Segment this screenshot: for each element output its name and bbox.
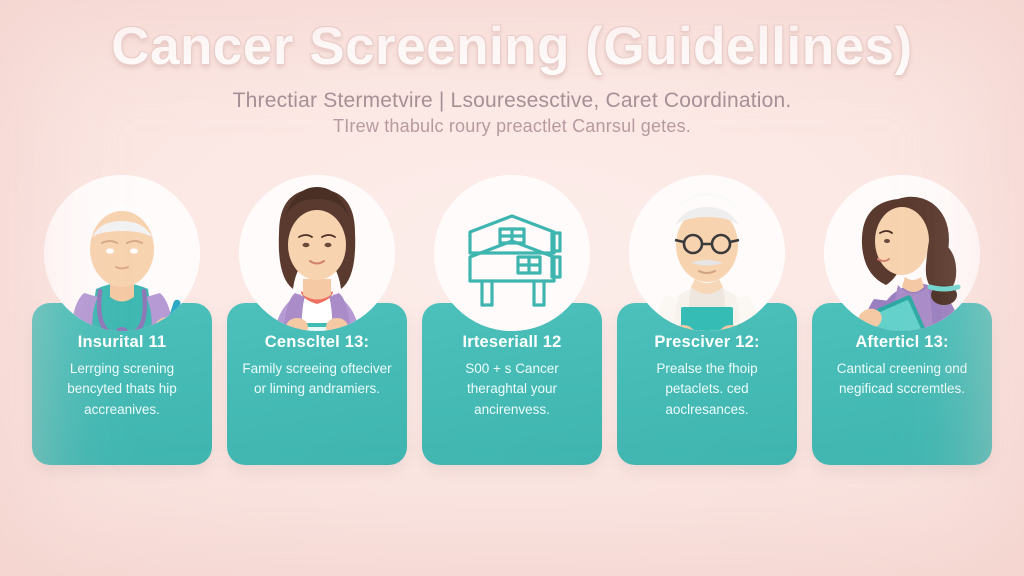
illustration-circle-1 — [44, 175, 200, 331]
card-body-1: Lerrging screning bencyted thats hip acc… — [44, 359, 200, 420]
subtitle-secondary: TIrew thabulc roury preactlet Canrsul ge… — [0, 116, 1024, 137]
illustration-circle-4 — [629, 175, 785, 331]
poster-header: Cancer Screening (Guidellines) Threctiar… — [0, 0, 1024, 137]
illustration-circle-3 — [434, 175, 590, 331]
column-2: Censcltel 13: Family screeing ofteciver … — [227, 175, 407, 465]
card-body-5: Cantical creening ond negificad sccremtl… — [824, 359, 980, 400]
column-3: Irteseriall 12 S00 + s Cancer theraghtal… — [422, 175, 602, 465]
columns-container: Insurital 11 Lerrging screning bencyted … — [0, 175, 1024, 465]
subtitle-primary: Threctiar Stermetvire | Lsouresesctive, … — [0, 89, 1024, 113]
nurse-with-stethoscope-illustration — [22, 141, 222, 351]
woman-with-tablet-illustration — [802, 141, 1002, 351]
card-body-4: Prealse the fhoip petaclets. ced aoclres… — [629, 359, 785, 420]
illustration-circle-5 — [824, 175, 980, 331]
illustration-circle-2 — [239, 175, 395, 331]
infographic-poster: Cancer Screening (Guidellines) Threctiar… — [0, 0, 1024, 576]
column-4: Presciver 12: Prealse the fhoip petaclet… — [617, 175, 797, 465]
mammography-machine-icon — [412, 141, 612, 351]
column-5: Afterticl 13: Cantical creening ond negi… — [812, 175, 992, 465]
column-1: Insurital 11 Lerrging screning bencyted … — [32, 175, 212, 465]
doctor-with-clipboard-illustration — [607, 141, 807, 351]
woman-holding-card-illustration — [217, 141, 417, 351]
page-title: Cancer Screening (Guidellines) — [0, 16, 1024, 79]
card-body-3: S00 + s Cancer theraghtal your ancirenve… — [434, 359, 590, 420]
card-body-2: Family screeing ofteciver or liming andr… — [239, 359, 395, 400]
